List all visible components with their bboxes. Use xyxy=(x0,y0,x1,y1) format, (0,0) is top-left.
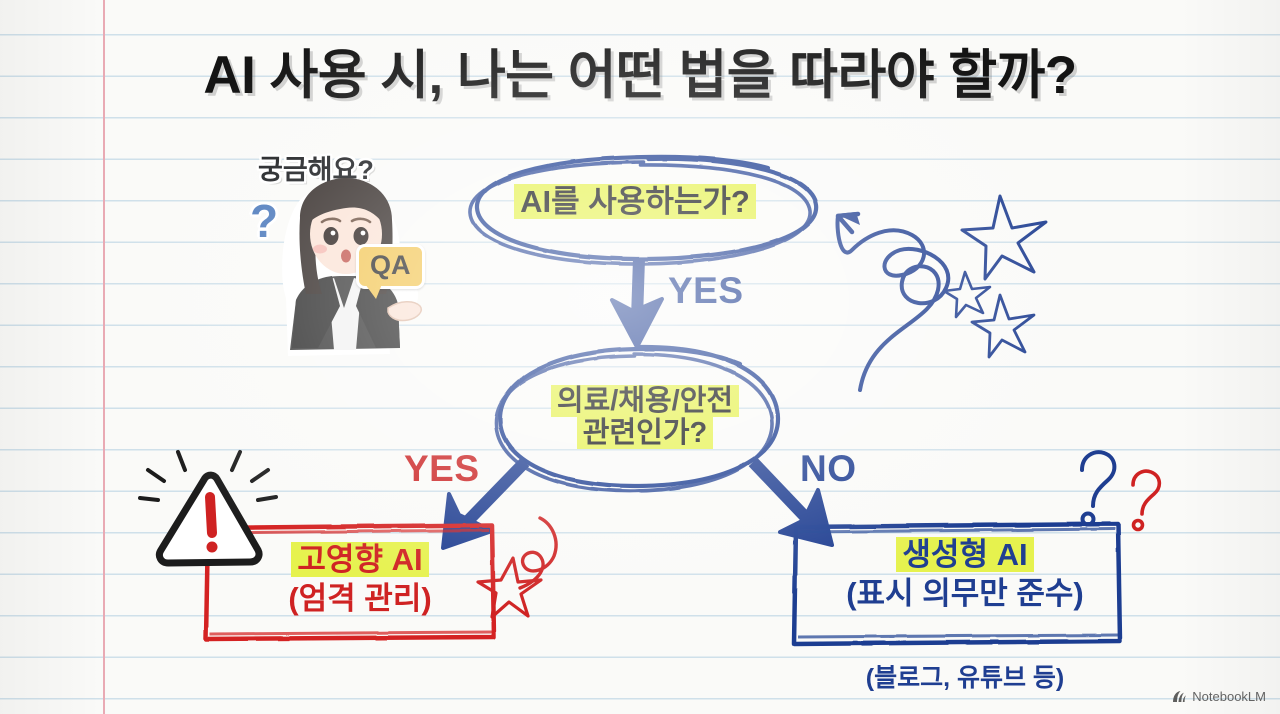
edge-label-yes-1: YES xyxy=(668,270,744,312)
decision-1-line-1: AI를 사용하는가? xyxy=(514,184,756,219)
edge-label-yes-2: YES xyxy=(404,448,480,490)
qa-speech-bubble: QA xyxy=(356,244,425,289)
notebooklm-logo-icon xyxy=(1172,690,1187,703)
outcome-generative-label: 생성형 AI (표시 의무만 준수) xyxy=(800,538,1130,611)
outcome-generative-caption: (블로그, 유튜브 등) xyxy=(800,658,1130,694)
watermark-label: NotebookLM xyxy=(1192,689,1266,704)
edge-label-no: NO xyxy=(800,448,857,490)
decision-2-line-1: 의료/채용/안전 xyxy=(551,385,739,417)
outcome-high-impact-line-2: (엄격 관리) xyxy=(215,582,505,617)
qa-character-sticker: 궁금해요? ? xyxy=(248,148,448,363)
notebooklm-watermark: NotebookLM xyxy=(1172,689,1266,704)
decision-1-label: AI를 사용하는가? xyxy=(470,185,800,220)
outcome-generative-line-2: (표시 의무만 준수) xyxy=(800,577,1130,612)
decision-2-label: 의료/채용/안전 관련인가? xyxy=(500,385,790,450)
outcome-high-impact-line-1: 고영향 AI xyxy=(291,542,428,577)
page-title: AI 사용 시, 나는 어떤 법을 따라야 할까? xyxy=(0,33,1280,109)
outcome-high-impact-label: 고영향 AI (엄격 관리) xyxy=(215,543,505,616)
outcome-generative-line-1: 생성형 AI xyxy=(896,537,1033,572)
decision-2-line-2: 관련인가? xyxy=(577,417,713,449)
slide-canvas: AI 사용 시, 나는 어떤 법을 따라야 할까? xyxy=(0,0,1280,714)
